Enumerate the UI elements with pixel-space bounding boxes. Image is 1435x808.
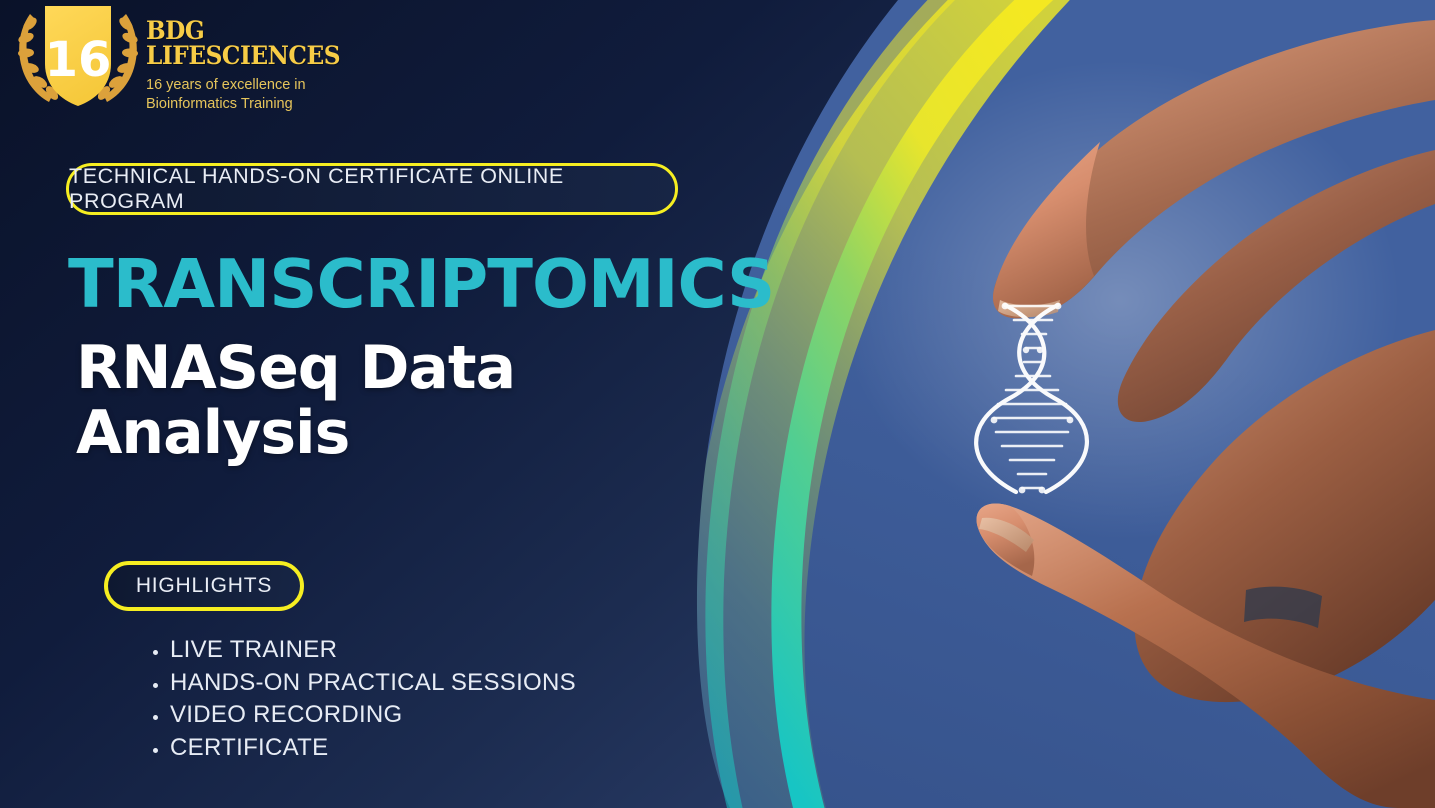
brand-line-2: LIFESCIENCES (146, 43, 340, 68)
list-item: HANDS-ON PRACTICAL SESSIONS (170, 667, 576, 700)
page-subtitle-line-2: Analysis (76, 401, 515, 466)
highlights-pill-label: HIGHLIGHTS (136, 574, 272, 598)
page-subtitle-line-1: RNASeq Data (76, 336, 515, 401)
logo-text: BDG LIFESCIENCES 16 years of excellence … (146, 18, 355, 114)
logo-tagline: 16 years of excellence in Bioinformatics… (146, 76, 355, 114)
tagline-line-2: Bioinformatics Training (146, 95, 355, 114)
highlights-pill[interactable]: HIGHLIGHTS (104, 561, 304, 611)
laurel-shield-badge: 16 (12, 6, 144, 109)
highlights-list: LIVE TRAINER HANDS-ON PRACTICAL SESSIONS… (142, 634, 576, 764)
program-banner-pill[interactable]: TECHNICAL HANDS-ON CERTIFICATE ONLINE PR… (66, 163, 678, 215)
tagline-line-1: 16 years of excellence in (146, 76, 355, 95)
page-title: TRANSCRIPTOMICS (68, 248, 774, 320)
logo[interactable]: 16 BDG LIFESCIENCES 16 years of excellen… (8, 6, 368, 111)
brand-line-1: BDG (146, 18, 340, 43)
list-item: VIDEO RECORDING (170, 699, 576, 732)
badge-number: 16 (45, 32, 112, 88)
list-item: LIVE TRAINER (170, 634, 576, 667)
page-subtitle: RNASeq Data Analysis (76, 336, 515, 466)
poster-canvas: 16 BDG LIFESCIENCES 16 years of excellen… (0, 0, 1435, 808)
gradient-arc-decoration (771, 0, 1078, 808)
list-item: CERTIFICATE (170, 732, 576, 765)
program-banner-label: TECHNICAL HANDS-ON CERTIFICATE ONLINE PR… (69, 164, 675, 214)
